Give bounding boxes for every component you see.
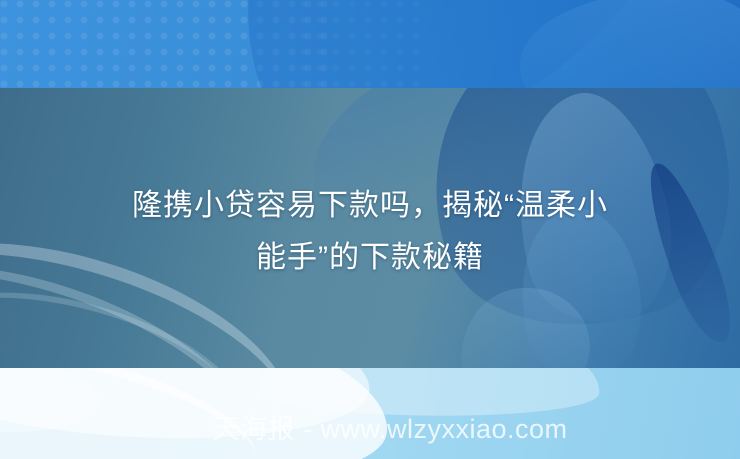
ribbon-shape-e	[452, 280, 597, 368]
watermark-text: 天海报 - www.wlzyxxiao.com	[172, 412, 567, 446]
watermark: 天海报 - www.wlzyxxiao.com	[0, 412, 740, 446]
top-band	[0, 0, 740, 88]
poster-title: 隆携小贷容易下款吗，揭秘“温柔小 能手”的下款秘籍	[0, 180, 740, 284]
poster-canvas: 隆携小贷容易下款吗，揭秘“温柔小 能手”的下款秘籍 天海报 - www.wlzy…	[0, 0, 740, 459]
title-line-2: 能手”的下款秘籍	[0, 232, 740, 284]
title-line-1: 隆携小贷容易下款吗，揭秘“温柔小	[0, 180, 740, 232]
